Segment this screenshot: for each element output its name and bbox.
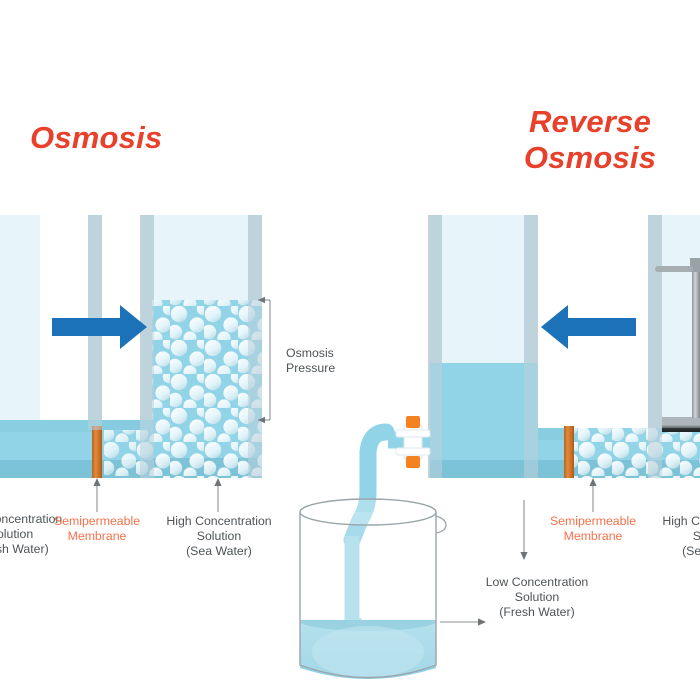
membrane-icon-right xyxy=(564,426,574,478)
beaker-icon xyxy=(298,499,446,686)
arrow-left-icon xyxy=(541,305,636,349)
label-semipermeable-membrane-left: Semipermeable Membrane xyxy=(42,514,152,544)
diagram-canvas: Osmosis Reverse Osmosis xyxy=(0,0,700,700)
left-apparatus xyxy=(0,215,270,512)
membrane-icon-left xyxy=(92,426,102,478)
title-osmosis: Osmosis xyxy=(30,120,162,156)
title-reverse-osmosis: Reverse Osmosis xyxy=(500,104,680,176)
osmosis-pressure-bracket xyxy=(258,300,270,420)
arrow-right-icon xyxy=(52,305,147,349)
label-high-concentration-left: High Concentration Solution (Sea Water) xyxy=(154,514,284,559)
piston-plunger-icon xyxy=(655,258,700,432)
label-osmosis-pressure: Osmosis Pressure xyxy=(286,346,376,376)
label-high-concentration-right: High Concentration Solution (Sea Water) xyxy=(650,514,700,559)
label-low-concentration-beaker: Low Concentration Solution (Fresh Water) xyxy=(472,575,602,620)
label-semipermeable-membrane-right: Semipermeable Membrane xyxy=(538,514,648,544)
outlet-pipe xyxy=(344,432,430,630)
valve-icon xyxy=(396,416,430,468)
